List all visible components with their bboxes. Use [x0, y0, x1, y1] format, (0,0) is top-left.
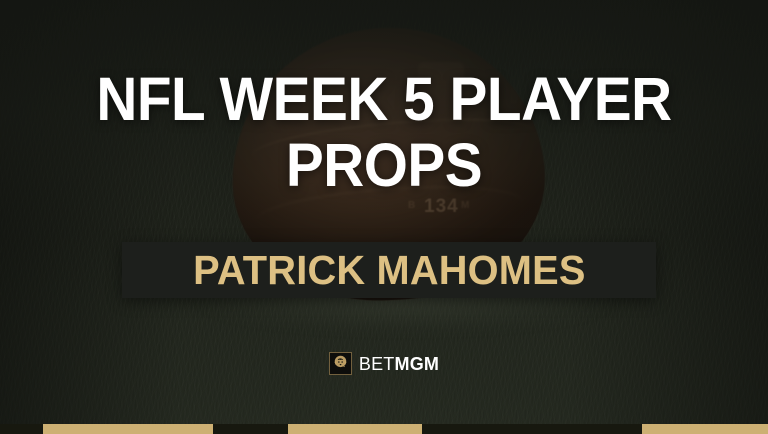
betmgm-logo[interactable]: BETMGM: [0, 352, 768, 375]
headline-line-2: PROPS: [27, 132, 741, 198]
card-top-accent-3[interactable]: [642, 424, 768, 434]
betmgm-lion-icon: [329, 352, 352, 375]
footer-strip: [0, 424, 768, 434]
player-name-banner: PATRICK MAHOMES: [122, 242, 656, 298]
card-top-accent-2[interactable]: [288, 424, 422, 434]
hero-banner: B 134 M NFL WEEK 5 PLAYER PROPS PATRICK …: [0, 0, 768, 434]
player-name-text: PATRICK MAHOMES: [193, 250, 586, 291]
betmgm-wordmark-bet: BET: [359, 354, 395, 374]
betmgm-wordmark-mgm: MGM: [395, 354, 440, 374]
betmgm-wordmark: BETMGM: [359, 355, 439, 373]
hero-headline: NFL WEEK 5 PLAYER PROPS: [27, 66, 741, 198]
card-top-accent-1[interactable]: [43, 424, 213, 434]
headline-line-1: NFL WEEK 5 PLAYER: [96, 65, 671, 133]
